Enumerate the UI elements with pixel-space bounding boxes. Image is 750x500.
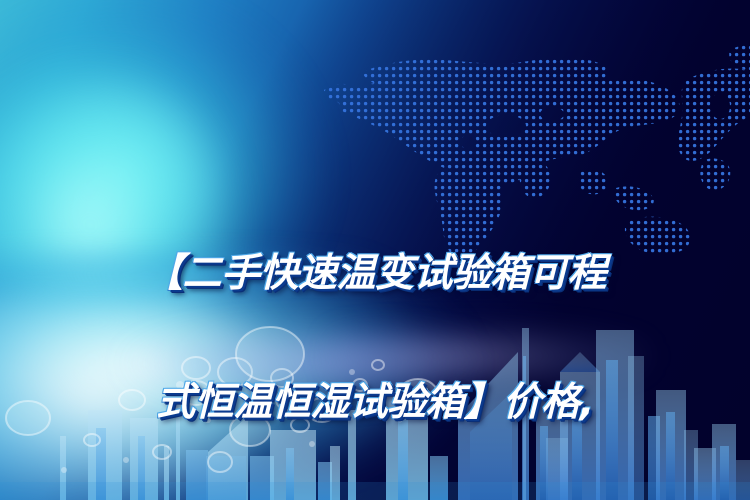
banner-title: 【二手快速温变试验箱可程 式恒温恒湿试验箱】价格, 厂家,其他试验箱及气候设 备 [0, 166, 750, 500]
title-line-1: 【二手快速温变试验箱可程 [0, 252, 750, 295]
title-line-2: 式恒温恒湿试验箱】价格, [0, 381, 750, 424]
promo-banner: 【二手快速温变试验箱可程 式恒温恒湿试验箱】价格, 厂家,其他试验箱及气候设 备 [0, 0, 750, 500]
